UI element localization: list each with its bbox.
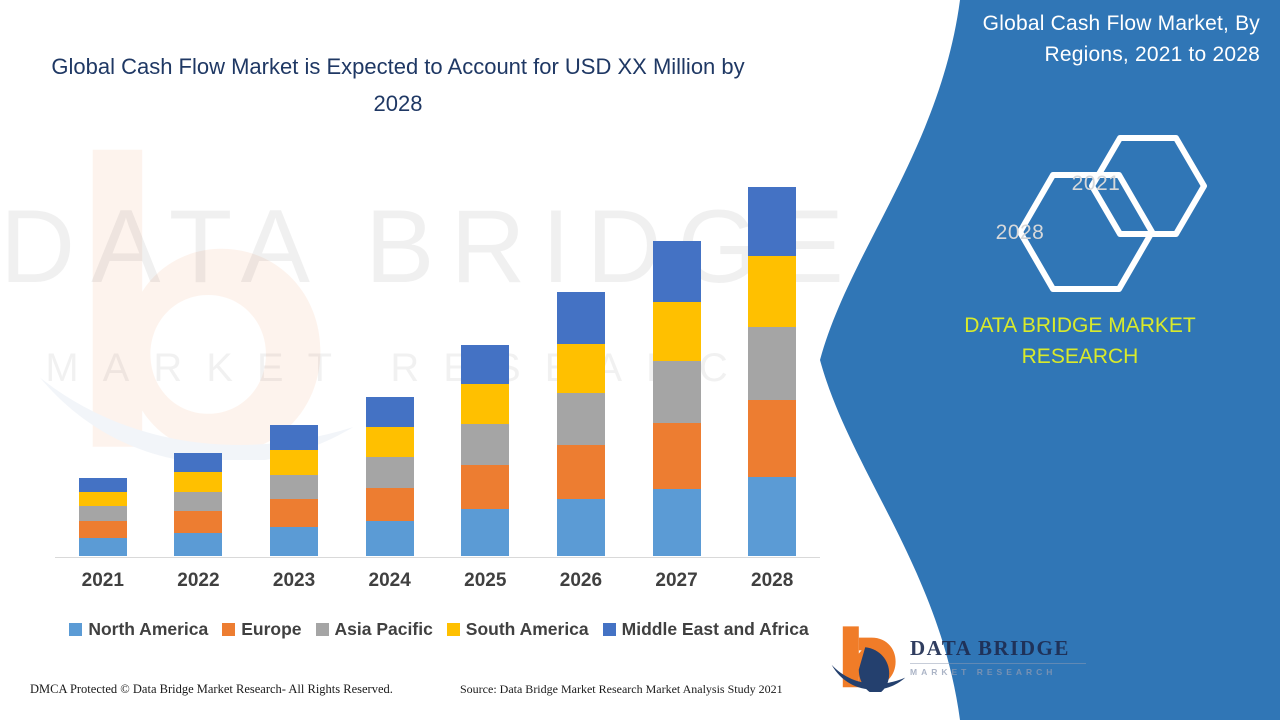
- x-axis-line: [55, 557, 820, 558]
- x-axis-label-2025: 2025: [440, 570, 530, 592]
- x-axis-label-2021: 2021: [58, 570, 148, 592]
- legend-label: North America: [88, 619, 208, 640]
- hexagon-2021-label: 2021: [1056, 172, 1136, 196]
- legend-swatch-icon: [222, 623, 235, 636]
- panel-title: Global Cash Flow Market, By Regions, 202…: [940, 8, 1260, 70]
- bar-segment: [461, 509, 509, 556]
- x-axis-label-2023: 2023: [249, 570, 339, 592]
- bar-2023: [270, 425, 318, 556]
- brand-name: DATA BRIDGE MARKET RESEARCH: [920, 310, 1240, 372]
- hexagon-2028-label: 2028: [980, 221, 1060, 245]
- x-axis-label-2028: 2028: [727, 570, 817, 592]
- logo-divider: [910, 663, 1086, 664]
- page-title: Global Cash Flow Market is Expected to A…: [28, 48, 768, 122]
- bar-2027: [653, 241, 701, 556]
- bar-segment: [270, 527, 318, 556]
- side-panel: Global Cash Flow Market, By Regions, 202…: [820, 0, 1280, 720]
- bar-segment: [366, 521, 414, 556]
- bar-2025: [461, 345, 509, 556]
- bar-segment: [748, 327, 796, 400]
- bar-segment: [557, 292, 605, 344]
- bar-segment: [557, 393, 605, 445]
- bar-segment: [557, 344, 605, 394]
- legend-swatch-icon: [316, 623, 329, 636]
- bar-2026: [557, 292, 605, 556]
- bar-2024: [366, 397, 414, 556]
- bar-segment: [748, 187, 796, 256]
- bar-segment: [270, 450, 318, 475]
- logo-mark-icon: [830, 620, 910, 692]
- bar-segment: [366, 457, 414, 488]
- bar-segment: [79, 492, 127, 507]
- legend-item[interactable]: South America: [447, 619, 589, 640]
- legend-item[interactable]: Asia Pacific: [316, 619, 433, 640]
- legend-label: Asia Pacific: [335, 619, 433, 640]
- logo-title: DATA BRIDGE: [910, 636, 1086, 661]
- bar-segment: [366, 397, 414, 427]
- x-axis-label-2026: 2026: [536, 570, 626, 592]
- bar-segment: [653, 302, 701, 362]
- bar-chart-plot: [55, 160, 820, 558]
- bar-group: [55, 160, 820, 557]
- bar-segment: [748, 477, 796, 556]
- bar-2021: [79, 478, 127, 556]
- bar-segment: [270, 475, 318, 500]
- bar-segment: [174, 472, 222, 492]
- legend-item[interactable]: Europe: [222, 619, 301, 640]
- bar-2022: [174, 453, 222, 556]
- bar-segment: [653, 423, 701, 489]
- footer-source: Source: Data Bridge Market Research Mark…: [460, 682, 783, 697]
- bar-segment: [366, 488, 414, 522]
- footer-copyright: DMCA Protected © Data Bridge Market Rese…: [30, 682, 393, 697]
- bar-segment: [461, 345, 509, 385]
- chart-area: Global Cash Flow Market is Expected to A…: [0, 0, 850, 720]
- legend-label: South America: [466, 619, 589, 640]
- bar-segment: [79, 521, 127, 538]
- legend-swatch-icon: [447, 623, 460, 636]
- bar-segment: [461, 384, 509, 424]
- legend-item[interactable]: Middle East and Africa: [603, 619, 809, 640]
- legend-item[interactable]: North America: [69, 619, 208, 640]
- bar-segment: [653, 361, 701, 423]
- panel-content: Global Cash Flow Market, By Regions, 202…: [820, 0, 1280, 720]
- x-axis-label-2027: 2027: [632, 570, 722, 592]
- legend-label: Europe: [241, 619, 301, 640]
- bar-segment: [174, 533, 222, 556]
- bar-segment: [174, 492, 222, 512]
- legend-swatch-icon: [69, 623, 82, 636]
- bar-segment: [174, 511, 222, 533]
- logo-subtitle: MARKET RESEARCH: [910, 667, 1086, 677]
- bar-segment: [557, 499, 605, 556]
- bar-segment: [557, 445, 605, 500]
- bar-segment: [79, 478, 127, 492]
- bar-segment: [461, 424, 509, 465]
- bar-segment: [174, 453, 222, 472]
- bar-segment: [653, 241, 701, 302]
- logo-text: DATA BRIDGE MARKET RESEARCH: [910, 636, 1086, 677]
- bar-segment: [270, 425, 318, 450]
- bar-segment: [366, 427, 414, 457]
- bar-segment: [270, 499, 318, 527]
- bar-segment: [79, 538, 127, 556]
- x-axis-label-2022: 2022: [153, 570, 243, 592]
- bar-segment: [748, 400, 796, 476]
- bar-segment: [748, 256, 796, 326]
- infographic-root: Global Cash Flow Market is Expected to A…: [0, 0, 1280, 720]
- bar-segment: [79, 506, 127, 521]
- footer: DMCA Protected © Data Bridge Market Rese…: [0, 682, 850, 708]
- bar-segment: [461, 465, 509, 510]
- company-logo: DATA BRIDGE MARKET RESEARCH: [830, 620, 1080, 700]
- bar-2028: [748, 187, 796, 556]
- legend-swatch-icon: [603, 623, 616, 636]
- x-axis-tick-labels: 20212022202320242025202620272028: [55, 570, 820, 602]
- chart-legend: North AmericaEuropeAsia PacificSouth Ame…: [55, 615, 823, 643]
- x-axis-label-2024: 2024: [345, 570, 435, 592]
- bar-segment: [653, 489, 701, 556]
- legend-label: Middle East and Africa: [622, 619, 809, 640]
